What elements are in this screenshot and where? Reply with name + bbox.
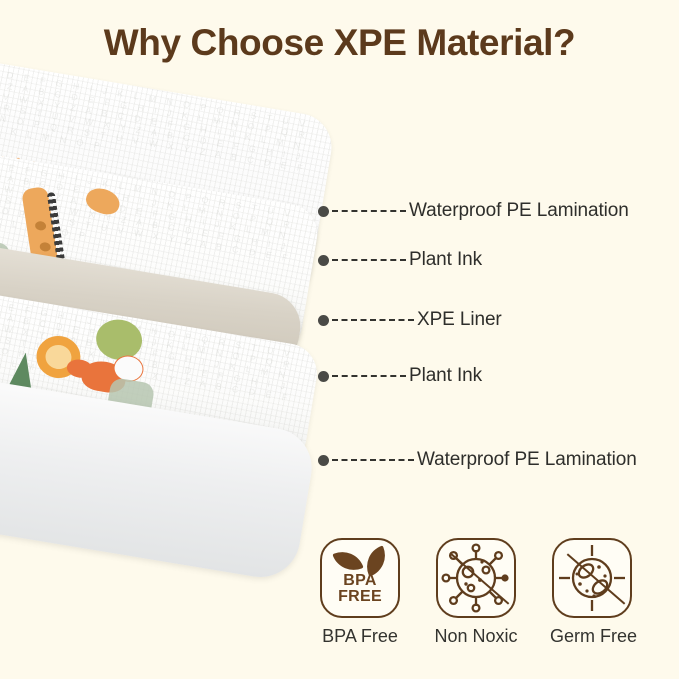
callout-row: Plant Ink <box>318 245 482 275</box>
callout-label: Waterproof PE Lamination <box>417 449 637 471</box>
bpa-line-2: FREE <box>322 589 398 605</box>
bpa-free-inner-text: BPA FREE <box>322 573 398 605</box>
callout-bullet-icon <box>318 455 329 466</box>
bpa-line-1: BPA <box>322 573 398 589</box>
page-title: Why Choose XPE Material? <box>0 22 679 64</box>
virus-glyph <box>438 540 514 616</box>
callout-row: Waterproof PE Lamination <box>318 196 629 226</box>
callout-row: Waterproof PE Lamination <box>318 445 637 475</box>
germ-glyph <box>554 540 630 616</box>
xpe-play-mat-layers-illustration: A B C D E F G H I J K L M N O P Q R S T … <box>0 80 322 600</box>
badge-caption: BPA Free <box>318 626 402 647</box>
badge-germ-free: Germ Free <box>550 538 634 658</box>
callout-row: Plant Ink <box>318 361 482 391</box>
callout-label: Plant Ink <box>409 365 482 387</box>
callout-dashed-leader <box>332 375 406 377</box>
callout-dashed-leader <box>332 210 406 212</box>
callout-dashed-leader <box>332 459 414 461</box>
callout-bullet-icon <box>318 371 329 382</box>
badge-bpa-free: BPA FREE BPA Free <box>318 538 402 658</box>
callout-bullet-icon <box>318 255 329 266</box>
badge-caption: Non Noxic <box>434 626 518 647</box>
leaf-bpa-free-icon: BPA FREE <box>320 538 400 618</box>
virus-slash-icon <box>436 538 516 618</box>
callout-label: Waterproof PE Lamination <box>409 200 629 222</box>
callout-bullet-icon <box>318 206 329 217</box>
callout-dashed-leader <box>332 319 414 321</box>
badge-non-noxic: Non Noxic <box>434 538 518 658</box>
callout-label: XPE Liner <box>417 309 502 331</box>
callout-label: Plant Ink <box>409 249 482 271</box>
callout-row: XPE Liner <box>318 305 502 335</box>
badge-caption: Germ Free <box>550 626 634 647</box>
certification-badges: BPA FREE BPA Free <box>318 538 679 658</box>
callout-dashed-leader <box>332 259 406 261</box>
callout-bullet-icon <box>318 315 329 326</box>
germ-crosshair-slash-icon <box>552 538 632 618</box>
